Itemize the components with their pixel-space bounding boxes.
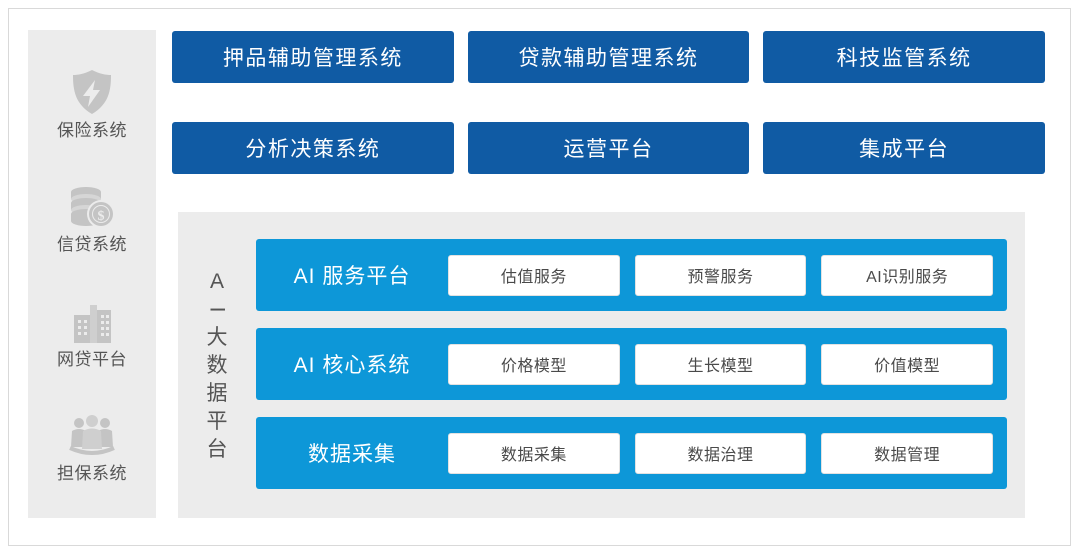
vertical-char: 台 bbox=[207, 439, 228, 460]
row-chips: 估值服务 预警服务 AI识别服务 bbox=[448, 255, 993, 296]
shield-bolt-icon bbox=[66, 68, 118, 116]
system-box-collateral-management[interactable]: 押品辅助管理系统 bbox=[172, 31, 454, 83]
sidebar-systems-panel: 保险系统 $ bbox=[28, 30, 156, 518]
sidebar-item-label: 担保系统 bbox=[57, 465, 127, 482]
platform-row-ai-core: AI 核心系统 价格模型 生长模型 价值模型 bbox=[256, 328, 1007, 400]
sidebar-item-label: 信贷系统 bbox=[57, 236, 127, 253]
coins-dollar-icon: $ bbox=[66, 182, 118, 230]
row-title: AI 服务平台 bbox=[256, 260, 448, 290]
chip-price-model[interactable]: 价格模型 bbox=[448, 344, 620, 385]
chip-value-model[interactable]: 价值模型 bbox=[821, 344, 993, 385]
architecture-diagram: 保险系统 $ bbox=[0, 0, 1080, 554]
chip-ai-recognition-service[interactable]: AI识别服务 bbox=[821, 255, 993, 296]
platform-row-data-collection: 数据采集 数据采集 数据治理 数据管理 bbox=[256, 417, 1007, 489]
vertical-char: 平 bbox=[207, 411, 228, 432]
row-chips: 数据采集 数据治理 数据管理 bbox=[448, 433, 993, 474]
system-box-tech-supervision[interactable]: 科技监管系统 bbox=[763, 31, 1045, 83]
chip-data-governance[interactable]: 数据治理 bbox=[635, 433, 807, 474]
buildings-icon bbox=[66, 297, 118, 345]
vertical-char: 据 bbox=[207, 383, 228, 404]
vertical-char: A bbox=[210, 271, 224, 292]
platform-row-ai-service: AI 服务平台 估值服务 预警服务 AI识别服务 bbox=[256, 239, 1007, 311]
top-systems-row-2: 分析决策系统 运营平台 集成平台 bbox=[172, 122, 1045, 174]
system-box-analysis-decision[interactable]: 分析决策系统 bbox=[172, 122, 454, 174]
sidebar-item-guarantee[interactable]: 担保系统 bbox=[28, 411, 156, 482]
system-box-loan-management[interactable]: 贷款辅助管理系统 bbox=[468, 31, 750, 83]
people-group-icon bbox=[66, 411, 118, 459]
vertical-char: I bbox=[207, 306, 228, 312]
chip-alert-service[interactable]: 预警服务 bbox=[635, 255, 807, 296]
row-title: AI 核心系统 bbox=[256, 349, 448, 379]
svg-text:$: $ bbox=[98, 209, 105, 224]
vertical-char: 大 bbox=[207, 327, 228, 348]
vertical-char: 数 bbox=[207, 355, 228, 376]
ai-bigdata-platform-panel: A I 大 数 据 平 台 AI 服务平台 估值服务 预警服务 AI识别服务 A… bbox=[178, 212, 1025, 518]
sidebar-item-online-loan[interactable]: 网贷平台 bbox=[28, 297, 156, 368]
sidebar-item-credit[interactable]: $ 信贷系统 bbox=[28, 182, 156, 253]
row-chips: 价格模型 生长模型 价值模型 bbox=[448, 344, 993, 385]
chip-valuation-service[interactable]: 估值服务 bbox=[448, 255, 620, 296]
sidebar-item-insurance[interactable]: 保险系统 bbox=[28, 68, 156, 139]
chip-growth-model[interactable]: 生长模型 bbox=[635, 344, 807, 385]
top-systems-row-1: 押品辅助管理系统 贷款辅助管理系统 科技监管系统 bbox=[172, 31, 1045, 83]
system-box-integration-platform[interactable]: 集成平台 bbox=[763, 122, 1045, 174]
sidebar-item-label: 保险系统 bbox=[57, 122, 127, 139]
sidebar-item-label: 网贷平台 bbox=[57, 351, 127, 368]
row-title: 数据采集 bbox=[256, 438, 448, 468]
platform-vertical-title: A I 大 数 据 平 台 bbox=[178, 212, 256, 518]
chip-data-management[interactable]: 数据管理 bbox=[821, 433, 993, 474]
system-box-operations-platform[interactable]: 运营平台 bbox=[468, 122, 750, 174]
chip-data-collection[interactable]: 数据采集 bbox=[448, 433, 620, 474]
platform-rows: AI 服务平台 估值服务 预警服务 AI识别服务 AI 核心系统 价格模型 生长… bbox=[256, 212, 1025, 518]
